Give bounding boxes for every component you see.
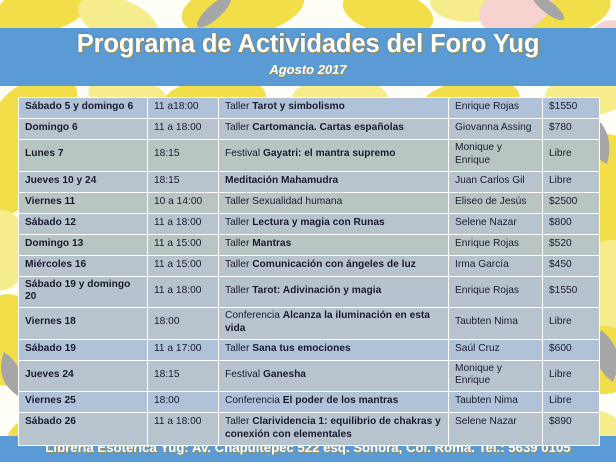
activity-title: Gayatri: el mantra supremo: [263, 148, 395, 159]
activity-prefix: Taller: [225, 101, 252, 112]
cell-activity: Meditación Mahamudra: [219, 171, 449, 192]
activity-title-line2: conexión con elementales: [225, 429, 352, 440]
activity-prefix: Conferencia: [225, 310, 283, 321]
cell-date: Sábado 19: [19, 339, 148, 360]
activity-prefix: Taller: [225, 238, 252, 249]
cell-date: Miércoles 16: [19, 255, 148, 276]
cell-date: Sábado 26: [19, 413, 148, 446]
cell-price: $1550: [543, 276, 600, 308]
cell-activity: Taller Clarividencia 1: equilibrio de ch…: [219, 413, 449, 446]
cell-price: $450: [543, 255, 600, 276]
cell-time: 18:00: [148, 392, 219, 413]
activity-prefix: Conferencia: [225, 395, 283, 406]
cell-presenter: Irma García: [449, 255, 543, 276]
table-row: Lunes 718:15Festival Gayatri: el mantra …: [19, 140, 600, 172]
cell-price: $600: [543, 339, 600, 360]
cell-activity: Taller Tarot: Adivinación y magia: [219, 276, 449, 308]
cell-presenter: Juan Carlos Gil: [449, 171, 543, 192]
cell-presenter: Eliseo de Jesús: [449, 192, 543, 213]
cell-date: Jueves 24: [19, 360, 148, 392]
poster-root: Programa de Actividades del Foro Yug Ago…: [0, 0, 616, 462]
table-row: Viernes 2518:00Conferencia El poder de l…: [19, 392, 600, 413]
cell-date: Domingo 13: [19, 234, 148, 255]
cell-date: Sábado 19 y domingo 20: [19, 276, 148, 308]
table-row: Sábado 2611 a 18:00Taller Clarividencia …: [19, 413, 600, 446]
table-row: Domingo 1311 a 15:00Taller MantrasEnriqu…: [19, 234, 600, 255]
activity-prefix: Taller: [225, 343, 252, 354]
cell-time: 11 a18:00: [148, 98, 219, 119]
cell-price: Libre: [543, 308, 600, 340]
activity-title: Sana tus emociones: [252, 343, 351, 354]
page-subtitle: Agosto 2017: [0, 62, 616, 77]
cell-price: $780: [543, 119, 600, 140]
table-row: Viernes 1110 a 14:00Taller Sexualidad hu…: [19, 192, 600, 213]
activity-prefix: Taller: [225, 259, 252, 270]
cell-date: Sábado 12: [19, 213, 148, 234]
table-row: Jueves 10 y 2418:15Meditación MahamudraJ…: [19, 171, 600, 192]
cell-price: $1550: [543, 98, 600, 119]
activity-title: Ganesha: [263, 369, 306, 380]
cell-activity: Festival Ganesha: [219, 360, 449, 392]
table-row: Sábado 5 y domingo 611 a18:00Taller Taro…: [19, 98, 600, 119]
activity-prefix: Festival: [225, 148, 263, 159]
cell-activity: Taller Sexualidad humana: [219, 192, 449, 213]
cell-time: 11 a 17:00: [148, 339, 219, 360]
cell-activity: Conferencia El poder de los mantras: [219, 392, 449, 413]
cell-price: $520: [543, 234, 600, 255]
cell-activity: Taller Lectura y magia con Runas: [219, 213, 449, 234]
cell-price: Libre: [543, 392, 600, 413]
cell-presenter: Taubten Nima: [449, 308, 543, 340]
cell-time: 10 a 14:00: [148, 192, 219, 213]
cell-time: 18:15: [148, 140, 219, 172]
cell-time: 11 a 18:00: [148, 213, 219, 234]
cell-price: Libre: [543, 171, 600, 192]
cell-presenter: Taubten Nima: [449, 392, 543, 413]
activity-title: Mantras: [252, 238, 291, 249]
cell-price: Libre: [543, 360, 600, 392]
activity-prefix: Taller: [225, 416, 252, 427]
cell-activity: Taller Comunicación con ángeles de luz: [219, 255, 449, 276]
cell-date: Viernes 18: [19, 308, 148, 340]
cell-price: $800: [543, 213, 600, 234]
cell-price: $890: [543, 413, 600, 446]
cell-presenter: Giovanna Assing: [449, 119, 543, 140]
activity-title: Cartomancia. Cartas españolas: [252, 122, 404, 133]
activity-prefix: Taller: [225, 122, 252, 133]
activity-title: Tarot: Adivinación y magia: [252, 285, 381, 296]
cell-date: Sábado 5 y domingo 6: [19, 98, 148, 119]
cell-time: 18:15: [148, 360, 219, 392]
table-row: Sábado 1211 a 18:00Taller Lectura y magi…: [19, 213, 600, 234]
cell-presenter: Enrique Rojas: [449, 276, 543, 308]
activity-title: Tarot y simbolismo: [252, 101, 345, 112]
activity-title: Comunicación con ángeles de luz: [252, 259, 416, 270]
cell-presenter: Enrique Rojas: [449, 234, 543, 255]
cell-date: Viernes 25: [19, 392, 148, 413]
cell-date: Jueves 10 y 24: [19, 171, 148, 192]
schedule-table-body: Sábado 5 y domingo 611 a18:00Taller Taro…: [19, 98, 600, 446]
cell-activity: Taller Tarot y simbolismo: [219, 98, 449, 119]
cell-time: 11 a 18:00: [148, 276, 219, 308]
cell-price: Libre: [543, 140, 600, 172]
cell-presenter: Enrique Rojas: [449, 98, 543, 119]
cell-time: 11 a 15:00: [148, 255, 219, 276]
activity-prefix: Taller: [225, 285, 252, 296]
table-row: Domingo 611 a 18:00Taller Cartomancia. C…: [19, 119, 600, 140]
activity-prefix: Taller: [225, 217, 252, 228]
cell-time: 11 a 15:00: [148, 234, 219, 255]
page-title: Programa de Actividades del Foro Yug: [0, 30, 616, 59]
cell-presenter: Monique y Enrique: [449, 360, 543, 392]
activity-prefix: Taller Sexualidad humana: [225, 196, 342, 207]
cell-date: Viernes 11: [19, 192, 148, 213]
cell-activity: Taller Mantras: [219, 234, 449, 255]
activity-title: Clarividencia 1: equilibrio de chakras y: [252, 416, 441, 427]
cell-time: 18:15: [148, 171, 219, 192]
cell-activity: Taller Cartomancia. Cartas españolas: [219, 119, 449, 140]
cell-presenter: Monique y Enrique: [449, 140, 543, 172]
cell-presenter: Selene Nazar: [449, 413, 543, 446]
cell-activity: Festival Gayatri: el mantra supremo: [219, 140, 449, 172]
cell-activity: Conferencia Alcanza la iluminación en es…: [219, 308, 449, 340]
activity-title: Lectura y magia con Runas: [252, 217, 384, 228]
cell-price: $2500: [543, 192, 600, 213]
table-row: Viernes 1818:00Conferencia Alcanza la il…: [19, 308, 600, 340]
table-row: Jueves 2418:15Festival GaneshaMonique y …: [19, 360, 600, 392]
cell-time: 18:00: [148, 308, 219, 340]
activity-prefix: Festival: [225, 369, 263, 380]
table-row: Miércoles 1611 a 15:00Taller Comunicació…: [19, 255, 600, 276]
title-band: Programa de Actividades del Foro Yug Ago…: [0, 28, 616, 86]
cell-time: 11 a 18:00: [148, 119, 219, 140]
table-row: Sábado 1911 a 17:00Taller Sana tus emoci…: [19, 339, 600, 360]
schedule-table: Sábado 5 y domingo 611 a18:00Taller Taro…: [18, 97, 600, 446]
activity-title: Meditación Mahamudra: [225, 175, 338, 186]
cell-date: Lunes 7: [19, 140, 148, 172]
activity-title: El poder de los mantras: [283, 395, 399, 406]
cell-activity: Taller Sana tus emociones: [219, 339, 449, 360]
cell-presenter: Selene Nazar: [449, 213, 543, 234]
cell-presenter: Saúl Cruz: [449, 339, 543, 360]
table-row: Sábado 19 y domingo 2011 a 18:00Taller T…: [19, 276, 600, 308]
cell-time: 11 a 18:00: [148, 413, 219, 446]
cell-date: Domingo 6: [19, 119, 148, 140]
